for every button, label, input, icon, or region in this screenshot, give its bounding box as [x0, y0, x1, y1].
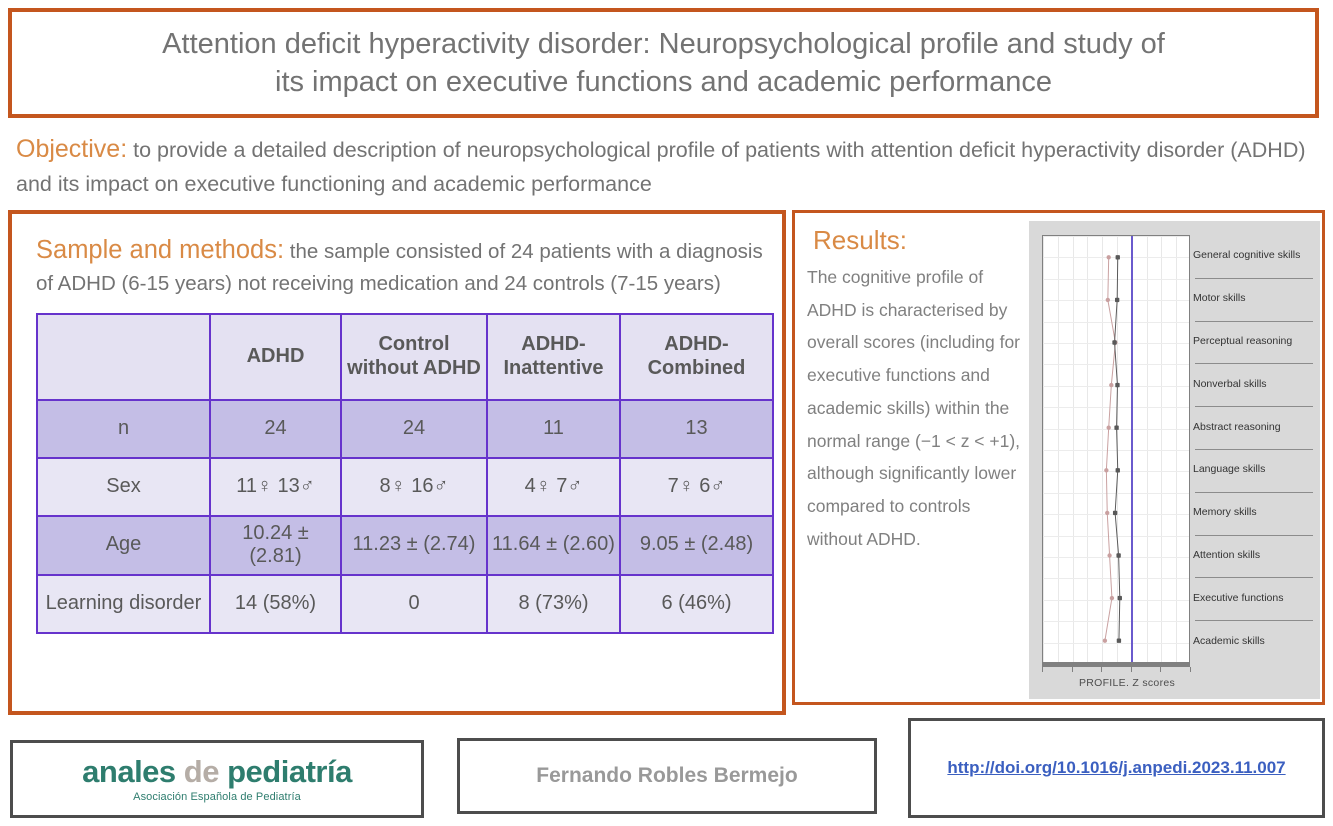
table-header-inattentive: ADHD-Inattentive	[487, 314, 620, 400]
chart-x-axis	[1042, 663, 1190, 667]
chart-x-tick	[1190, 667, 1191, 672]
poster-title-box: Attention deficit hyperactivity disorder…	[8, 8, 1319, 118]
chart-category-separator	[1195, 577, 1313, 578]
chart-x-axis-label: PROFILE. Z scores	[1042, 677, 1212, 689]
journal-logo: anales de pediatría Asociación Española …	[82, 756, 352, 803]
table-header-adhd: ADHD	[210, 314, 341, 400]
chart-reference-line	[1131, 236, 1133, 662]
chart-category-separator	[1195, 535, 1313, 536]
cell-sex-control: 8♀ 16♂	[341, 458, 487, 516]
chart-data-point	[1104, 468, 1108, 472]
table-row: Sex 11♀ 13♂ 8♀ 16♂ 4♀ 7♂ 7♀ 6♂	[37, 458, 773, 516]
table-header-row: ADHD Control without ADHD ADHD-Inattenti…	[37, 314, 773, 400]
chart-category-separator	[1195, 406, 1313, 407]
page-title: Attention deficit hyperactivity disorder…	[136, 25, 1191, 102]
chart-category-labels: General cognitive skillsMotor skillsPerc…	[1191, 235, 1317, 663]
chart-data-point	[1107, 553, 1111, 557]
cell-ld-inattentive: 8 (73%)	[487, 575, 620, 633]
chart-series-line-1	[1115, 257, 1120, 640]
chart-category-separator	[1195, 449, 1313, 450]
sample-and-methods-panel: Sample and methods: the sample consisted…	[8, 210, 786, 715]
cell-n-control: 24	[341, 400, 487, 458]
chart-data-point	[1115, 298, 1119, 302]
chart-data-point	[1106, 298, 1110, 302]
chart-data-point	[1114, 426, 1118, 430]
table-header-control: Control without ADHD	[341, 314, 487, 400]
row-label-n: n	[37, 400, 210, 458]
chart-data-point	[1107, 255, 1111, 259]
cell-ld-control: 0	[341, 575, 487, 633]
sample-description: Sample and methods: the sample consisted…	[28, 232, 766, 299]
objective-label: Objective:	[16, 135, 127, 163]
cell-sex-combined: 7♀ 6♂	[620, 458, 773, 516]
chart-category-separator	[1195, 492, 1313, 493]
chart-data-point	[1103, 639, 1107, 643]
chart-data-point	[1116, 553, 1120, 557]
chart-plot-area	[1042, 235, 1190, 663]
cell-sex-inattentive: 4♀ 7♂	[487, 458, 620, 516]
chart-category-separator	[1195, 620, 1313, 621]
logo-word-de: de	[184, 754, 219, 789]
chart-data-point	[1115, 383, 1119, 387]
chart-data-point	[1107, 426, 1111, 430]
chart-data-point	[1112, 340, 1116, 344]
author-name: Fernando Robles Bermejo	[536, 764, 797, 788]
chart-data-point	[1105, 511, 1109, 515]
cell-age-adhd: 10.24 ± (2.81)	[210, 516, 341, 575]
title-line-1: Attention deficit hyperactivity disorder…	[162, 28, 1165, 60]
table-row: n 24 24 11 13	[37, 400, 773, 458]
chart-data-point	[1116, 468, 1120, 472]
journal-logo-subtitle: Asociación Española de Pediatría	[82, 792, 352, 803]
title-line-2: its impact on executive functions and ac…	[275, 66, 1052, 98]
cell-n-adhd: 24	[210, 400, 341, 458]
cell-n-combined: 13	[620, 400, 773, 458]
table-row: Age 10.24 ± (2.81) 11.23 ± (2.74) 11.64 …	[37, 516, 773, 575]
chart-data-point	[1118, 596, 1122, 600]
chart-category-label: Motor skills	[1193, 292, 1317, 304]
chart-category-label: Nonverbal skills	[1193, 378, 1317, 390]
doi-box: http://doi.org/10.1016/j.anpedi.2023.11.…	[908, 718, 1325, 818]
objective-section: Objective: to provide a detailed descrip…	[16, 130, 1316, 201]
chart-x-tick	[1131, 667, 1132, 672]
table-header-combined: ADHD-Combined	[620, 314, 773, 400]
cell-ld-combined: 6 (46%)	[620, 575, 773, 633]
cell-sex-adhd: 11♀ 13♂	[210, 458, 341, 516]
chart-category-label: Language skills	[1193, 463, 1317, 475]
author-box: Fernando Robles Bermejo	[457, 738, 877, 814]
chart-category-label: General cognitive skills	[1193, 249, 1317, 261]
chart-category-label: Memory skills	[1193, 506, 1317, 518]
chart-category-label: Abstract reasoning	[1193, 421, 1317, 433]
results-label: Results:	[813, 225, 907, 256]
chart-category-separator	[1195, 278, 1313, 279]
chart-data-point	[1110, 596, 1114, 600]
journal-logo-box: anales de pediatría Asociación Española …	[10, 740, 424, 818]
chart-category-label: Perceptual reasoning	[1193, 335, 1317, 347]
cell-n-inattentive: 11	[487, 400, 620, 458]
chart-x-tick	[1160, 667, 1161, 672]
results-text: The cognitive profile of ADHD is charact…	[807, 261, 1025, 555]
cell-age-control: 11.23 ± (2.74)	[341, 516, 487, 575]
chart-category-separator	[1195, 363, 1313, 364]
chart-x-tick	[1072, 667, 1073, 672]
chart-data-point	[1113, 511, 1117, 515]
table-header-blank	[37, 314, 210, 400]
results-panel: Results: The cognitive profile of ADHD i…	[792, 210, 1325, 705]
cell-ld-adhd: 14 (58%)	[210, 575, 341, 633]
table-row: Learning disorder 14 (58%) 0 8 (73%) 6 (…	[37, 575, 773, 633]
chart-category-separator	[1195, 321, 1313, 322]
sample-label: Sample and methods:	[36, 236, 284, 264]
cell-age-combined: 9.05 ± (2.48)	[620, 516, 773, 575]
doi-link[interactable]: http://doi.org/10.1016/j.anpedi.2023.11.…	[947, 758, 1285, 778]
chart-x-tick	[1101, 667, 1102, 672]
chart-category-label: Attention skills	[1193, 549, 1317, 561]
row-label-age: Age	[37, 516, 210, 575]
cell-age-inattentive: 11.64 ± (2.60)	[487, 516, 620, 575]
chart-series-layer	[1043, 236, 1189, 662]
chart-data-point	[1117, 639, 1121, 643]
row-label-learning-disorder: Learning disorder	[37, 575, 210, 633]
demographics-table: ADHD Control without ADHD ADHD-Inattenti…	[36, 313, 774, 634]
journal-logo-title: anales de pediatría	[82, 756, 352, 787]
chart-category-label: Academic skills	[1193, 635, 1317, 647]
logo-word-pediatria: pediatría	[227, 754, 352, 789]
chart-data-point	[1116, 255, 1120, 259]
chart-series-line-0	[1105, 257, 1116, 640]
row-label-sex: Sex	[37, 458, 210, 516]
chart-x-tick	[1042, 667, 1043, 672]
logo-word-anales: anales	[82, 754, 176, 789]
chart-category-label: Executive functions	[1193, 592, 1317, 604]
chart-data-point	[1109, 383, 1113, 387]
objective-text: to provide a detailed description of neu…	[16, 138, 1306, 196]
profile-chart: PROFILE. Z scores General cognitive skil…	[1029, 221, 1320, 699]
